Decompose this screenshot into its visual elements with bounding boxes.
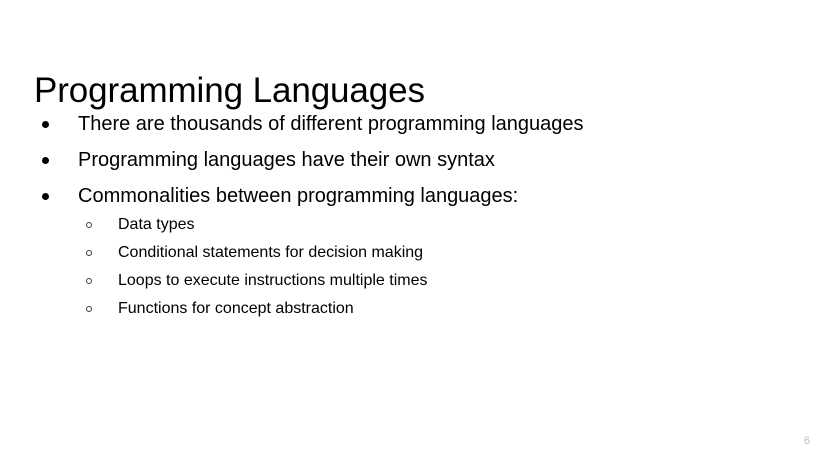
list-item: Commonalities between programming langua… <box>34 182 774 320</box>
list-item-label: Loops to execute instructions multiple t… <box>118 272 427 289</box>
list-item: Loops to execute instructions multiple t… <box>78 270 774 292</box>
bullet-list-level-2: Data types Conditional statements for de… <box>78 214 774 320</box>
list-item-label: There are thousands of different program… <box>78 113 584 135</box>
list-item: There are thousands of different program… <box>34 110 774 138</box>
list-item-label: Programming languages have their own syn… <box>78 149 495 171</box>
filled-circle-bullet-icon <box>42 157 49 164</box>
list-item-label: Conditional statements for decision maki… <box>118 244 423 261</box>
hollow-circle-bullet-icon <box>86 278 92 284</box>
list-item-label: Commonalities between programming langua… <box>78 185 518 207</box>
slide-body: There are thousands of different program… <box>34 110 774 328</box>
hollow-circle-bullet-icon <box>86 222 92 228</box>
list-item-label: Functions for concept abstraction <box>118 300 354 317</box>
hollow-circle-bullet-icon <box>86 306 92 312</box>
bullet-list-level-1: There are thousands of different program… <box>34 110 774 320</box>
filled-circle-bullet-icon <box>42 193 49 200</box>
presentation-slide: Programming Languages There are thousand… <box>0 0 828 466</box>
list-item: Programming languages have their own syn… <box>34 146 774 174</box>
list-item: Data types <box>78 214 774 236</box>
page-number: 6 <box>804 435 810 448</box>
page-title: Programming Languages <box>34 70 425 112</box>
hollow-circle-bullet-icon <box>86 250 92 256</box>
list-item: Functions for concept abstraction <box>78 298 774 320</box>
list-item-label: Data types <box>118 216 194 233</box>
list-item: Conditional statements for decision maki… <box>78 242 774 264</box>
filled-circle-bullet-icon <box>42 121 49 128</box>
